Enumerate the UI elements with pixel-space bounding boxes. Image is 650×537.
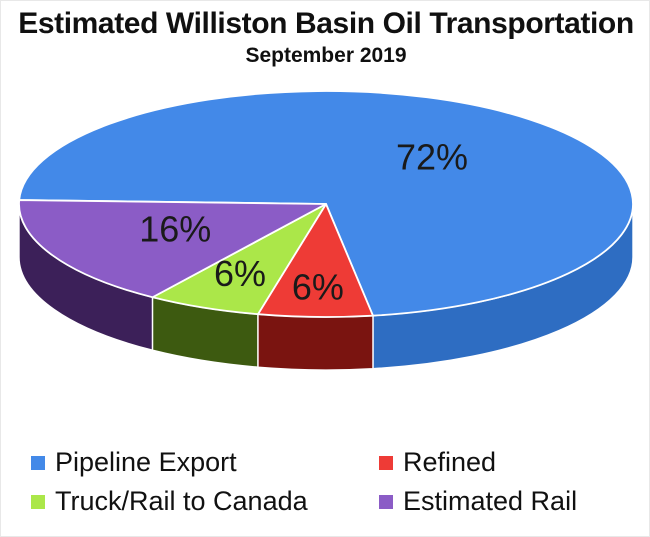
legend-row: Pipeline Export Refined (1, 447, 650, 486)
pie-chart-svg: 72%6%6%16% (1, 79, 650, 441)
legend-swatch-icon (379, 495, 393, 509)
legend-row: Truck/Rail to Canada Estimated Rail (1, 486, 650, 525)
pie-slice-percent-label: 6% (292, 266, 344, 307)
legend-item-label: Estimated Rail (403, 486, 577, 516)
legend-swatch-icon (31, 495, 45, 509)
legend-item-refined[interactable]: Refined (361, 447, 650, 477)
chart-legend: Pipeline Export Refined Truck/Rail to Ca… (1, 447, 650, 531)
legend-item-label: Truck/Rail to Canada (55, 486, 308, 516)
chart-page: Estimated Williston Basin Oil Transporta… (0, 0, 650, 537)
title-block: Estimated Williston Basin Oil Transporta… (1, 7, 650, 69)
legend-item-label: Refined (403, 447, 496, 477)
pie-slice-percent-label: 6% (214, 253, 266, 294)
page-subtitle: September 2019 (1, 43, 650, 69)
legend-item-truck-rail-to-canada[interactable]: Truck/Rail to Canada (1, 486, 361, 516)
legend-item-estimated-rail[interactable]: Estimated Rail (361, 486, 650, 516)
legend-item-label: Pipeline Export (55, 447, 237, 477)
legend-swatch-icon (31, 456, 45, 470)
pie-slice-percent-label: 72% (396, 137, 468, 178)
legend-item-pipeline-export[interactable]: Pipeline Export (1, 447, 361, 477)
legend-swatch-icon (379, 456, 393, 470)
pie-slice-side (258, 314, 373, 370)
pie-chart: 72%6%6%16% (1, 79, 650, 441)
page-title: Estimated Williston Basin Oil Transporta… (1, 7, 650, 41)
pie-slice-percent-label: 16% (139, 209, 211, 250)
